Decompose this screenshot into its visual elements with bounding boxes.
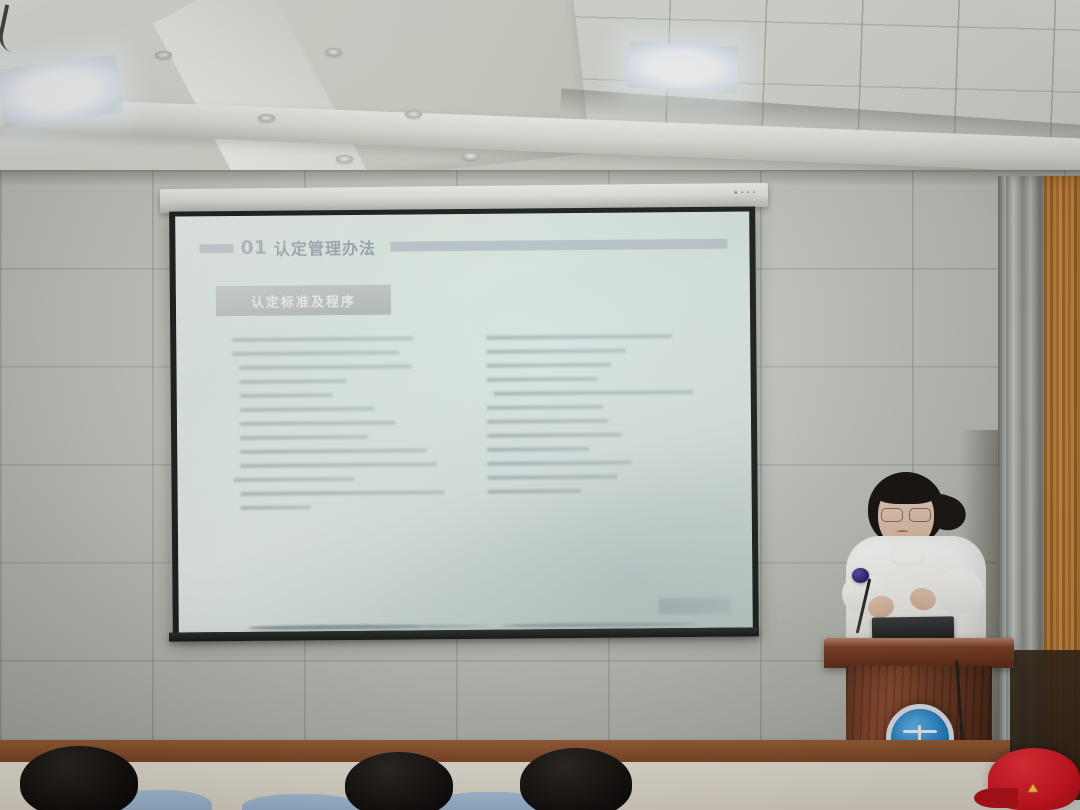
screen-surface: 01 认定管理办法 认定标准及程序	[175, 212, 753, 633]
recessed-downlight	[325, 48, 342, 56]
red-baseball-cap	[988, 748, 1080, 810]
slide-text-line	[487, 433, 622, 438]
title-bar-fill	[391, 239, 728, 252]
slide-section-chip: 认定标准及程序	[216, 285, 391, 317]
slide-text-line	[486, 363, 611, 368]
slide-title: 认定管理办法	[274, 235, 376, 260]
slide-corner-watermark	[659, 598, 731, 615]
wall-ceiling-joint	[0, 170, 1080, 186]
projection-screen: 01 认定管理办法 认定标准及程序	[169, 206, 759, 639]
cap-star-emblem	[1028, 784, 1038, 792]
slide-text-line	[487, 461, 631, 466]
slide-text-line	[503, 622, 698, 628]
recessed-downlight	[462, 152, 479, 160]
podium-top-highlight	[824, 638, 1014, 647]
led-panel-light	[627, 41, 739, 93]
slide-text-line	[240, 448, 426, 454]
slide-text-line	[487, 419, 608, 424]
section-chip-label: 认定标准及程序	[251, 290, 356, 310]
slide-text-line	[487, 447, 589, 452]
slide-text-line	[232, 351, 399, 356]
recessed-downlight	[258, 114, 275, 122]
slide-text-line	[488, 489, 581, 494]
recessed-downlight	[405, 110, 422, 118]
hair-fringe	[874, 478, 938, 504]
slide-text-line	[240, 393, 333, 398]
wood-baseboard	[0, 740, 1010, 764]
audience-head	[345, 752, 453, 810]
cap-brim	[974, 788, 1018, 808]
slide-text-line	[240, 407, 375, 412]
slide-text-line	[494, 390, 694, 396]
slide-text-line	[486, 334, 672, 340]
slide-text-line	[240, 435, 368, 440]
audience-head	[520, 748, 632, 810]
recessed-downlight	[155, 51, 172, 59]
slide-number: 01	[240, 237, 267, 259]
podium-top	[824, 638, 1014, 668]
slide-text-line	[249, 624, 421, 630]
slide-text-line	[240, 379, 347, 384]
slide-text-line	[240, 462, 437, 468]
presentation-photo-scene: ● ▪ ▪ ▪ 01 认定管理办法 认定标准及程序	[0, 0, 1080, 810]
slide-content: 01 认定管理办法 认定标准及程序	[175, 212, 753, 633]
ceiling	[0, 0, 1080, 196]
housing-brand-mark: ● ▪ ▪ ▪	[734, 190, 756, 196]
microphone-head	[852, 568, 869, 583]
slide-text-line	[240, 421, 395, 426]
slide-title-row: 01 认定管理办法	[199, 232, 727, 261]
slide-text-line	[233, 477, 354, 482]
blouse-collar	[890, 544, 924, 566]
slide-text-line	[241, 490, 445, 496]
left-column	[232, 336, 466, 520]
slide-text-line	[239, 364, 411, 369]
right-sleeve	[936, 570, 984, 614]
title-accent-tab	[199, 244, 233, 253]
audience-head	[20, 746, 138, 810]
slide-text-line	[241, 505, 311, 510]
slide-text-line	[487, 377, 598, 382]
slide-text-line	[487, 475, 617, 480]
slide-text-line	[486, 349, 625, 354]
slide-text-line	[232, 336, 413, 342]
recessed-downlight	[336, 155, 353, 163]
audience-shoulder	[242, 794, 360, 810]
slide-body-columns	[232, 334, 720, 520]
glasses	[881, 508, 931, 520]
slide-text-line	[487, 405, 603, 410]
right-column	[486, 334, 720, 518]
